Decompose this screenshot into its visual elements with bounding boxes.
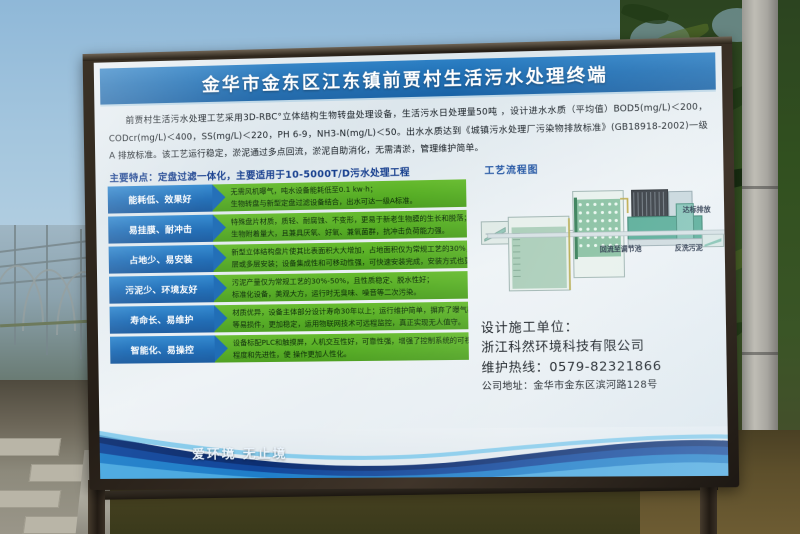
slogan-text: 爱环境 无止境 — [192, 443, 288, 463]
feature-line: 程度和先进性，使 操作更加人性化。 — [233, 346, 464, 360]
feature-description: 特殊盘片材质，质轻、耐腐蚀、不变形，更易于新老生物膜的生长和脱落； 生物附着量大… — [213, 210, 467, 242]
feature-description: 无需风机曝气，吨水设备能耗低至0.1 kw·h； 生物转盘与新型定盘过滤设备结合… — [212, 179, 466, 211]
feature-row: 占地少、易安装 新型立体结构盘片使其比表面积大大增加，占地面积仅为常规工艺的30… — [109, 241, 468, 274]
company-name: 浙江科然环境科技有限公司 — [481, 334, 728, 357]
feature-tag: 智能化、易操控 — [110, 336, 215, 364]
feature-line: 等易损件，更加稳定，运用物联网技术可远程监控，真正实现无人值守。 — [232, 316, 463, 331]
intro-paragraph: 前贾村生活污水处理工艺采用3D-RBC°立体结构生物转盘处理设备，生活污水日处理… — [108, 99, 708, 167]
company-address: 公司地址：金华市金东区滨河路128号 — [482, 376, 729, 395]
diagram-label-return: 回流至调节池 — [600, 243, 642, 254]
flowchart-heading: 工艺流程图 — [484, 162, 538, 177]
intro-paragraph-block: 前贾村生活污水处理工艺采用3D-RBC°立体结构生物转盘处理设备，生活污水日处理… — [108, 99, 708, 167]
diagram-label-discharge: 达标排放 — [683, 203, 711, 214]
main-content-area: 能耗低、效果好 无需风机曝气，吨水设备能耗低至0.1 kw·h； 生物转盘与新型… — [96, 174, 728, 431]
feature-line: 层或多层安装；设备集成性和可移动性强，可快速安装完成，安装方式也更加灵活。 — [232, 254, 463, 269]
feature-row: 污泥少、环境友好 污泥产量仅为常规工艺的30%-50%，且性质稳定、脱水性好； … — [109, 271, 468, 304]
feature-list: 能耗低、效果好 无需风机曝气，吨水设备能耗低至0.1 kw·h； 生物转盘与新型… — [108, 179, 470, 430]
feature-row: 能耗低、效果好 无需风机曝气，吨水设备能耗低至0.1 kw·h； 生物转盘与新型… — [108, 179, 467, 213]
flow-diagram-svg — [476, 176, 728, 294]
process-flow-diagram: 达标排放 回流至调节池 反洗污泥 — [476, 176, 728, 302]
sign-panel: 金华市金东区江东镇前贾村生活污水处理终端 前贾村生活污水处理工艺采用3D-RBC… — [94, 46, 729, 479]
company-info-block: 设计施工单位： 浙江科然环境科技有限公司 维护热线：0579-82321866 … — [481, 315, 729, 396]
feature-description: 材质优异，设备主体部分设计寿命30年以上；运行维护简单，摒弃了曝气器 等易损件，… — [214, 302, 468, 333]
information-signboard: 金华市金东区江东镇前贾村生活污水处理终端 前贾村生活污水处理工艺采用3D-RBC… — [83, 36, 740, 490]
feature-tag: 易挂膜、耐冲击 — [108, 215, 213, 244]
feature-tag: 能耗低、效果好 — [108, 185, 213, 214]
feature-description: 新型立体结构盘片使其比表面积大大增加，占地面积仅为常规工艺的30%，可实现双 层… — [213, 241, 467, 273]
feature-description: 设备标配PLC和触摸屏，人机交互性好，可靠性强，增强了控制系统的可视化 程度和先… — [215, 332, 469, 362]
feature-row: 易挂膜、耐冲击 特殊盘片材质，质轻、耐腐蚀、不变形，更易于新老生物膜的生长和脱落… — [108, 210, 467, 244]
feature-row: 寿命长、易维护 材质优异，设备主体部分设计寿命30年以上；运行维护简单，摒弃了曝… — [110, 302, 469, 334]
right-column: 达标排放 回流至调节池 反洗污泥 设计施工单位： 浙江科然环境科技有限公司 维护… — [472, 174, 728, 428]
feature-tag: 寿命长、易维护 — [110, 305, 215, 333]
bottom-wave-banner: 爱环境 无止境 — [99, 426, 728, 479]
feature-tag: 污泥少、环境友好 — [109, 275, 214, 304]
page-title: 金华市金东区江东镇前贾村生活污水处理终端 — [202, 61, 609, 97]
feature-description: 污泥产量仅为常规工艺的30%-50%，且性质稳定、脱水性好； 标准化设备，美观大… — [214, 271, 468, 302]
feature-row: 智能化、易操控 设备标配PLC和触摸屏，人机交互性好，可靠性强，增强了控制系统的… — [110, 332, 469, 363]
diagram-label-backwash: 反洗污泥 — [675, 242, 703, 253]
sign-title-band: 金华市金东区江东镇前贾村生活污水处理终端 — [100, 52, 716, 106]
feature-line: 标准化设备，美观大方，运行时无臭味、噪音等二次污染。 — [232, 285, 463, 300]
feature-tag: 占地少、易安装 — [109, 245, 214, 274]
company-hotline: 维护热线：0579-82321866 — [481, 354, 728, 377]
